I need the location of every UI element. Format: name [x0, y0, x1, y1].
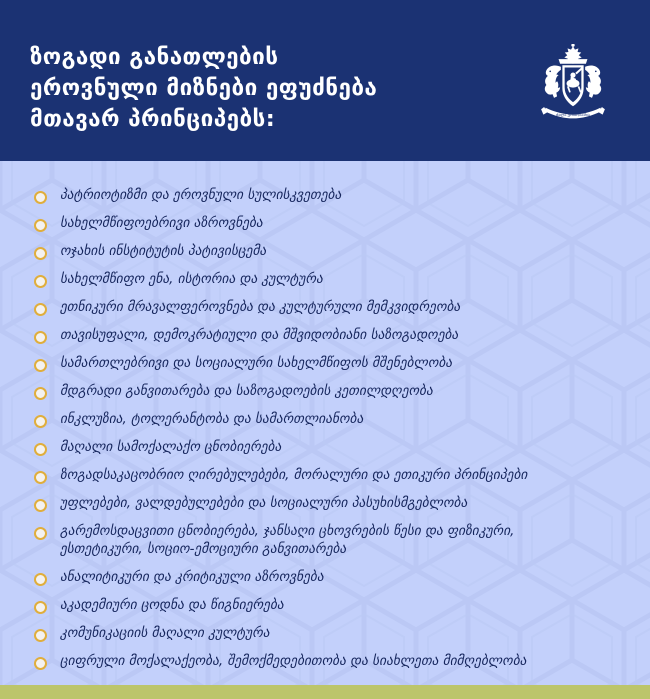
ring-bullet-icon — [34, 499, 47, 512]
list-item: ინკლუზია, ტოლერანტობა და სამართლიანობა — [0, 411, 650, 429]
list-item: სახელმწიფოებრივი აზროვნება — [0, 215, 650, 233]
list-item-label: სახელმწიფო ენა, ისტორია და კულტურა — [60, 271, 636, 289]
list-item: მდგრადი განვითარება და საზოგადოების კეთი… — [0, 383, 650, 401]
list-item: ზოგადსაკაცობრიო ღირებულებები, მორალური დ… — [0, 467, 650, 485]
list-item-label: აკადემიური ცოდნა და წიგნიერება — [60, 597, 636, 615]
ring-bullet-icon — [34, 601, 47, 614]
ring-bullet-icon — [34, 471, 47, 484]
list-item: პატრიოტიზმი და ეროვნული სულისკვეთება — [0, 187, 650, 205]
svg-text:ძალა ერთობაშია: ძალა ერთობაშია — [556, 112, 590, 117]
header-band: ზოგადი განათლების ეროვნული მიზნები ეფუძნ… — [0, 0, 650, 161]
list-item: სახელმწიფო ენა, ისტორია და კულტურა — [0, 271, 650, 289]
list-item-label: მაღალი სამოქალაქო ცნობიერება — [60, 439, 636, 457]
bottom-accent-bar — [0, 685, 650, 699]
list-item-label: კომუნიკაციის მაღალი კულტურა — [60, 625, 636, 643]
page-title: ზოგადი განათლების ეროვნული მიზნები ეფუძნ… — [30, 42, 500, 135]
list-item: უფლებები, ვალდებულებები და სოციალური პას… — [0, 495, 650, 513]
ring-bullet-icon — [34, 387, 47, 400]
list-item-label: უფლებები, ვალდებულებები და სოციალური პას… — [60, 495, 636, 513]
list-item-label: გარემოსდაცვითი ცნობიერება, ჯანსაღი ცხოვრ… — [60, 523, 636, 558]
ring-bullet-icon — [34, 443, 47, 456]
list-item-label: სამართლებრივი და სოციალური სახელმწიფოს მ… — [60, 355, 636, 373]
list-item: თავისუფალი, დემოკრატიული და მშვიდობიანი … — [0, 327, 650, 345]
list-item-label: პატრიოტიზმი და ეროვნული სულისკვეთება — [60, 187, 636, 205]
list-item-label: თავისუფალი, დემოკრატიული და მშვიდობიანი … — [60, 327, 636, 345]
list-item: ანალიტიკური და კრიტიკული აზროვნება — [0, 569, 650, 587]
list-item: სამართლებრივი და სოციალური სახელმწიფოს მ… — [0, 355, 650, 373]
ring-bullet-icon — [34, 629, 47, 642]
list-item-label: ოჯახის ინსტიტუტის პატივისცემა — [60, 243, 636, 261]
list-item: ციფრული მოქალაქეობა, შემოქმედებითობა და … — [0, 653, 650, 671]
ring-bullet-icon — [34, 247, 47, 260]
list-item-label: მდგრადი განვითარება და საზოგადოების კეთი… — [60, 383, 636, 401]
list-item: კომუნიკაციის მაღალი კულტურა — [0, 625, 650, 643]
list-item: ოჯახის ინსტიტუტის პატივისცემა — [0, 243, 650, 261]
ring-bullet-icon — [34, 527, 47, 540]
list-item-label: ციფრული მოქალაქეობა, შემოქმედებითობა და … — [60, 653, 636, 671]
ring-bullet-icon — [34, 657, 47, 670]
infographic-poster: ზოგადი განათლების ეროვნული მიზნები ეფუძნ… — [0, 0, 650, 699]
list-item: მაღალი სამოქალაქო ცნობიერება — [0, 439, 650, 457]
list-item-label: ზოგადსაკაცობრიო ღირებულებები, მორალური დ… — [60, 467, 636, 485]
ring-bullet-icon — [34, 331, 47, 344]
ring-bullet-icon — [34, 359, 47, 372]
list-item: აკადემიური ცოდნა და წიგნიერება — [0, 597, 650, 615]
ring-bullet-icon — [34, 191, 47, 204]
ring-bullet-icon — [34, 303, 47, 316]
list-item-label: ეთნიკური მრავალფეროვნება და კულტურული მე… — [60, 299, 636, 317]
list-item: გარემოსდაცვითი ცნობიერება, ჯანსაღი ცხოვრ… — [0, 523, 650, 558]
list-item-label: სახელმწიფოებრივი აზროვნება — [60, 215, 636, 233]
ring-bullet-icon — [34, 275, 47, 288]
ring-bullet-icon — [34, 415, 47, 428]
principles-list: პატრიოტიზმი და ეროვნული სულისკვეთება სახ… — [0, 161, 650, 681]
ring-bullet-icon — [34, 219, 47, 232]
list-item: ეთნიკური მრავალფეროვნება და კულტურული მე… — [0, 299, 650, 317]
list-item-label: ანალიტიკური და კრიტიკული აზროვნება — [60, 569, 636, 587]
georgia-coat-of-arms-icon: ძალა ერთობაშია — [534, 44, 612, 126]
ring-bullet-icon — [34, 573, 47, 586]
list-item-label: ინკლუზია, ტოლერანტობა და სამართლიანობა — [60, 411, 636, 429]
